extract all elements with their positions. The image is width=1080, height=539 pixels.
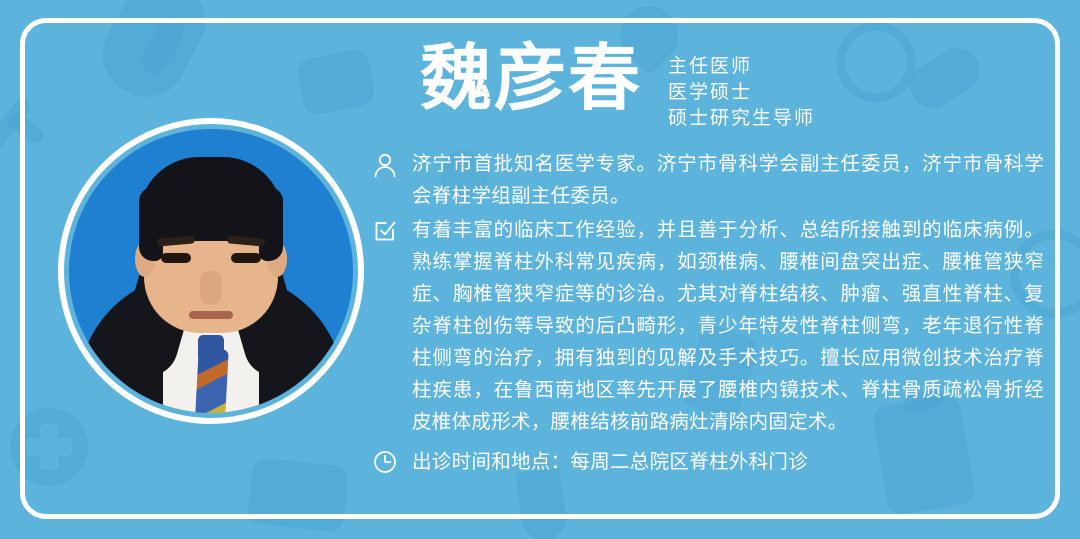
capsule-watermark-icon	[89, 0, 220, 111]
capsule-watermark-icon	[137, 12, 189, 79]
doctor-profile-card: 魏彦春 主任医师 医学硕士 硕士研究生导师 济宁市首批知名医学专家。济宁市骨科学…	[0, 0, 1080, 539]
capsule-watermark-icon	[902, 40, 988, 117]
clipboard-check-icon	[372, 214, 412, 244]
credential-item: 主任医师	[668, 54, 815, 80]
ring-watermark-icon	[836, 22, 916, 102]
person-icon	[372, 148, 412, 178]
info-text: 有着丰富的临床工作经验，并且善于分析、总结所接触到的临床病例。熟练掌握脊柱外科常…	[412, 214, 1044, 438]
credential-item: 医学硕士	[668, 80, 815, 106]
doctor-name: 魏彦春	[420, 40, 642, 118]
medicine-box-watermark-icon	[295, 47, 377, 117]
info-text: 出诊时间和地点：每周二总院区脊柱外科门诊	[412, 446, 1044, 478]
book-watermark-icon	[247, 457, 349, 533]
portrait-ring-border	[58, 118, 364, 424]
syringe-watermark-icon	[0, 96, 33, 200]
credential-item: 硕士研究生导师	[668, 106, 815, 132]
syringe-watermark-icon	[5, 109, 46, 146]
info-text: 济宁市首批知名医学专家。济宁市骨科学会副主任委员，济宁市骨科学会脊柱学组副主任委…	[412, 148, 1044, 212]
clock-icon	[372, 449, 412, 475]
doctor-portrait	[58, 118, 364, 424]
credential-list: 主任医师 医学硕士 硕士研究生导师	[668, 54, 815, 132]
doctor-info-sections: 济宁市首批知名医学专家。济宁市骨科学会副主任委员，济宁市骨科学会脊柱学组副主任委…	[372, 148, 1044, 480]
info-row-expertise-title: 济宁市首批知名医学专家。济宁市骨科学会副主任委员，济宁市骨科学会脊柱学组副主任委…	[372, 148, 1044, 212]
medical-cross-watermark-icon	[26, 438, 72, 456]
medical-cross-watermark-icon	[40, 424, 58, 470]
info-row-clinic-schedule: 出诊时间和地点：每周二总院区脊柱外科门诊	[372, 446, 1044, 478]
name-and-credentials: 魏彦春 主任医师 医学硕士 硕士研究生导师	[420, 40, 815, 132]
info-row-experience: 有着丰富的临床工作经验，并且善于分析、总结所接触到的临床病例。熟练掌握脊柱外科常…	[372, 214, 1044, 438]
